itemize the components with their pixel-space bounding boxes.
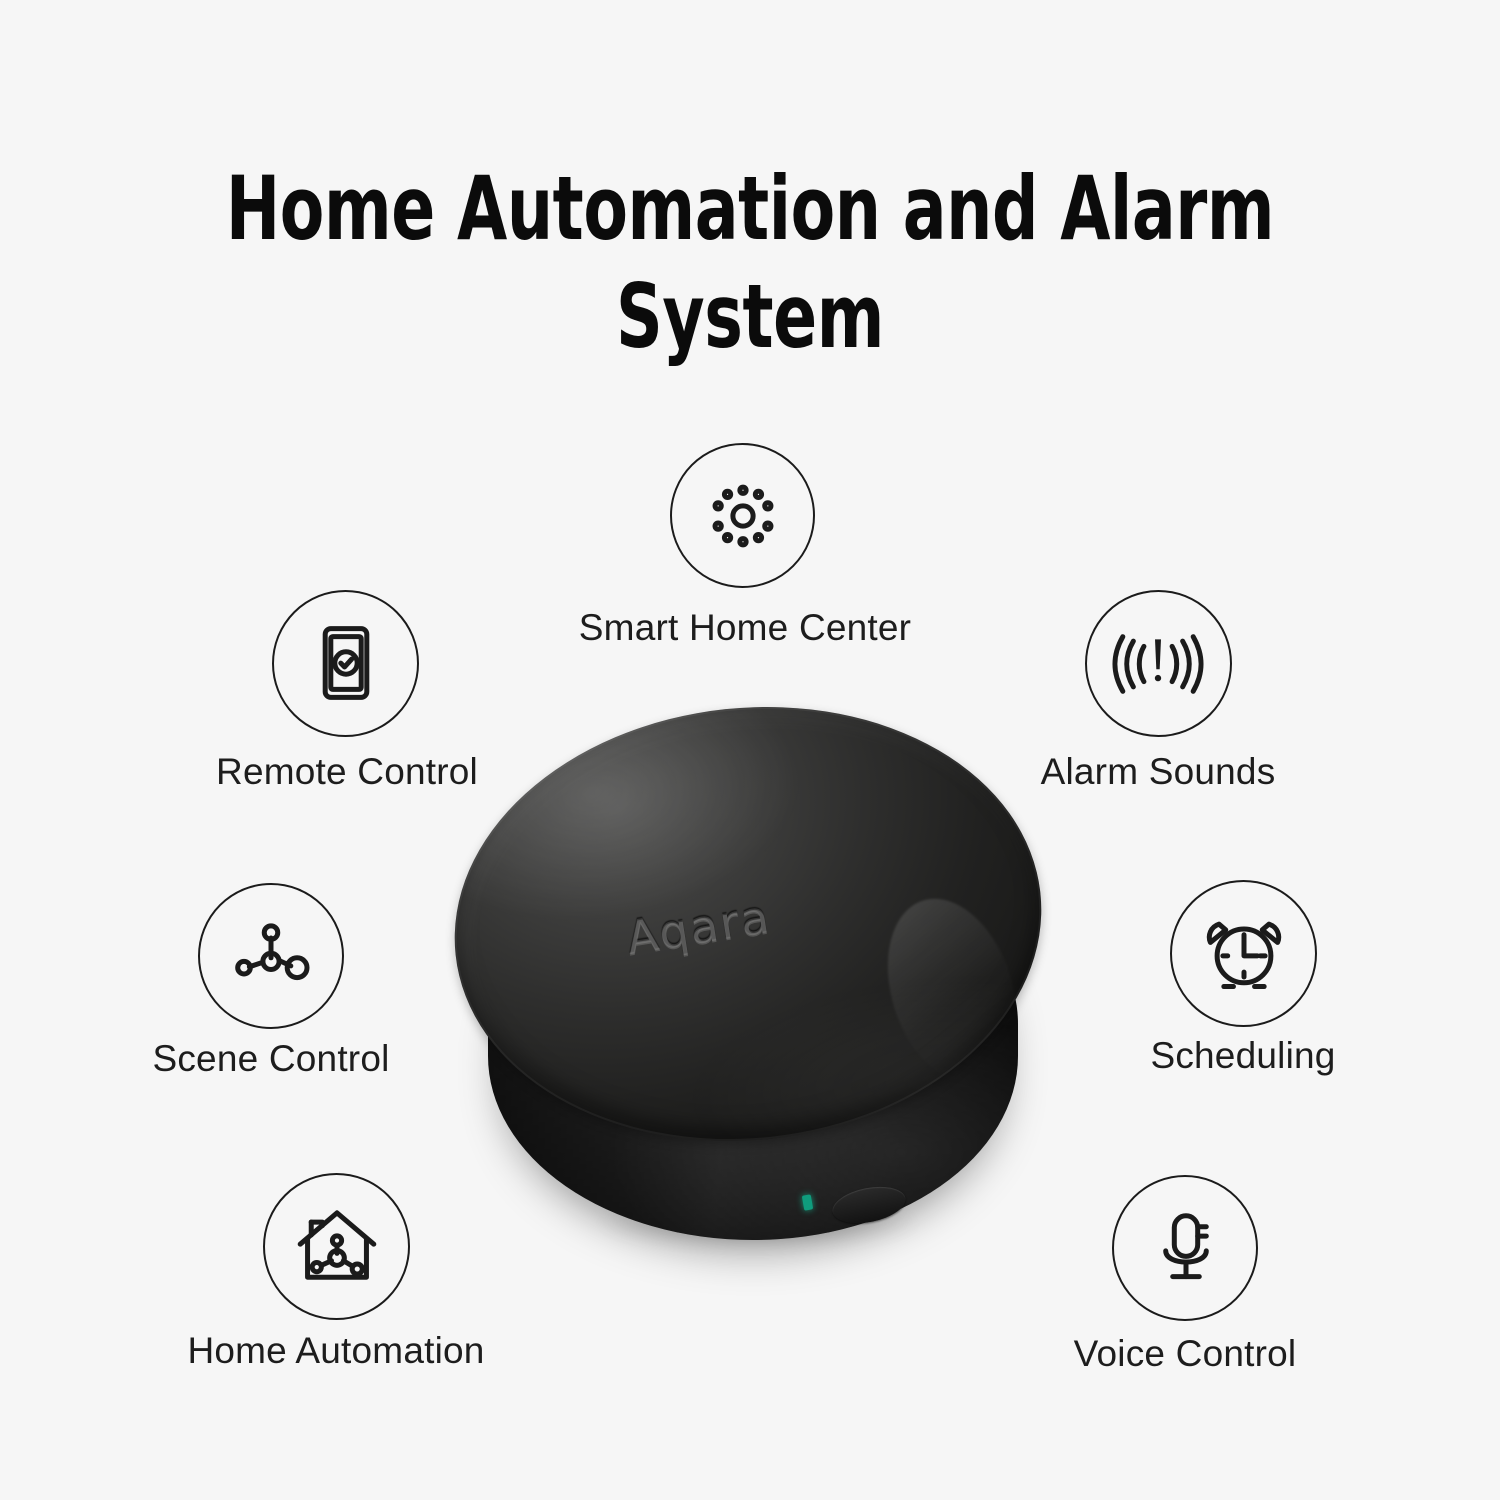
infographic-canvas: Home Automation and Alarm System Smart H… [0,0,1500,1500]
scene-control-label: Scene Control [152,1037,389,1081]
house-network-icon [291,1200,383,1292]
home-automation-label: Home Automation [187,1329,484,1373]
title-line-2: System [135,263,1365,371]
node-network-icon [226,911,316,1001]
smartphone-check-icon [306,616,386,710]
alarm-clock-icon [1196,904,1292,1000]
smart-home-center-label: Smart Home Center [579,606,911,650]
page-title: Home Automation and Alarm System [135,155,1365,371]
remote-control-label: Remote Control [216,750,478,794]
hub-dots-icon [697,470,789,562]
title-line-1: Home Automation and Alarm [226,157,1274,260]
alarm-sound-waves-icon [1102,620,1214,708]
scheduling-label: Scheduling [1150,1034,1335,1078]
product-image-aqara-hub: Aqara [440,690,1060,1280]
microphone-icon [1147,1200,1225,1294]
alarm-sounds-label: Alarm Sounds [1041,750,1276,794]
voice-control-label: Voice Control [1074,1332,1297,1376]
